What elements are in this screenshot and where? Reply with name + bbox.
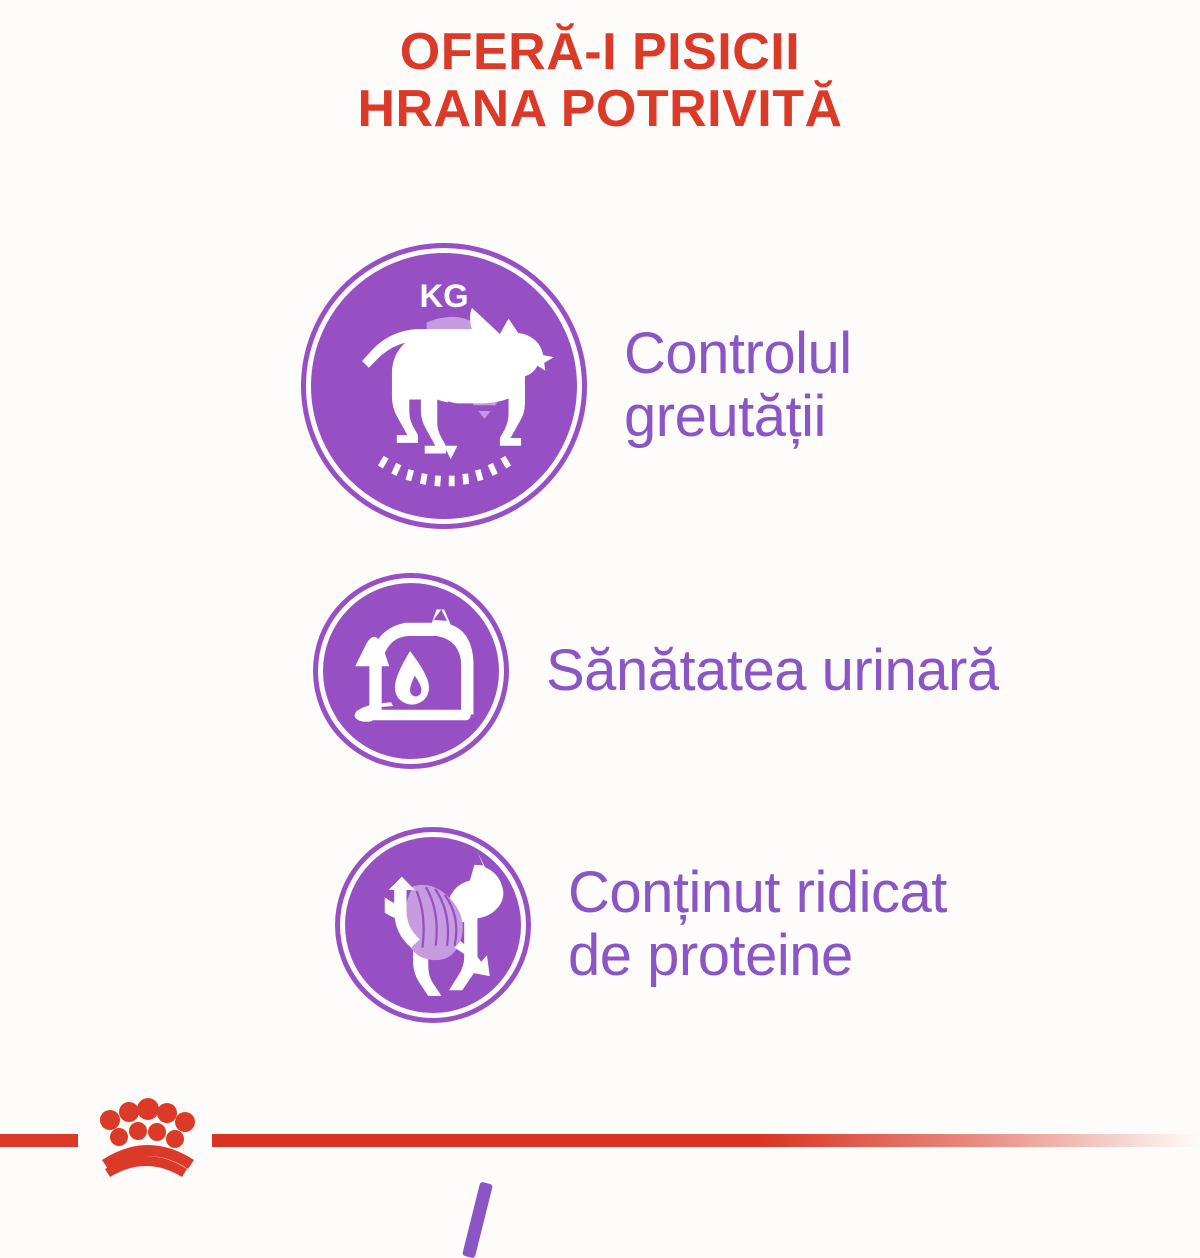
feature-label-urinary-health: Sănătatea urinară <box>546 640 999 703</box>
page-title: OFERĂ-I PISICII HRANA POTRIVITĂ <box>0 24 1200 138</box>
svg-text:KG: KG <box>419 277 468 314</box>
cat-weight-scale-icon: KG <box>306 248 582 524</box>
royal-canin-crown-logo <box>78 1098 212 1186</box>
page-title-line-2: HRANA POTRIVITĂ <box>0 81 1200 138</box>
feature-list: KG <box>0 160 1200 1080</box>
feature-item-urinary-health: Sănătatea urinară <box>318 578 999 764</box>
footer-rule-left <box>0 1134 78 1147</box>
page-title-line-1: OFERĂ-I PISICII <box>0 24 1200 81</box>
feature-item-high-protein: Conținut ridicat de proteine <box>340 832 947 1018</box>
footer-rule-right <box>212 1134 1200 1147</box>
feature-label-weight-control: Controlul greutății <box>624 323 852 448</box>
footer <box>0 1080 1200 1200</box>
cat-water-drop-icon <box>318 578 504 764</box>
feature-item-weight-control: KG <box>306 248 852 524</box>
feature-label-high-protein: Conținut ridicat de proteine <box>568 862 947 987</box>
cat-muscle-protein-icon <box>340 832 526 1018</box>
